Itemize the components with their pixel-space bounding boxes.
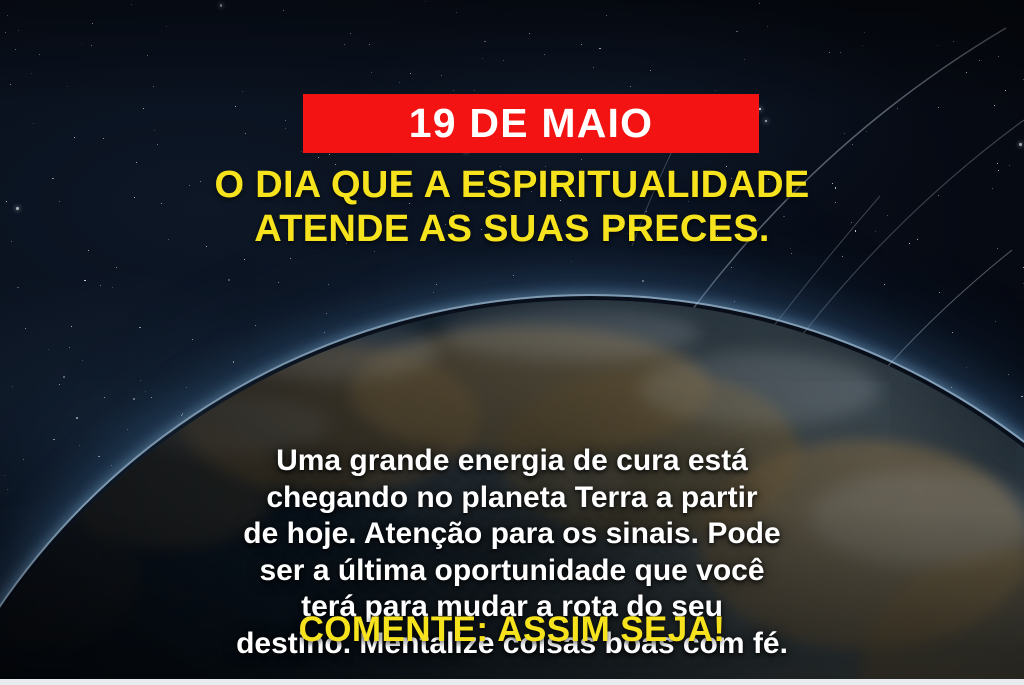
date-banner-text: 19 DE MAIO	[409, 103, 653, 144]
poster-canvas: 19 DE MAIO O DIA QUE A ESPIRITUALIDADE A…	[0, 0, 1024, 685]
call-to-action-text: COMENTE: ASSIM SEJA!	[0, 612, 1024, 647]
body-line-4: ser a última oportunidade que você	[62, 553, 962, 590]
body-line-3: de hoje. Atenção para os sinais. Pode	[62, 516, 962, 553]
headline: O DIA QUE A ESPIRITUALIDADE ATENDE AS SU…	[0, 163, 1024, 251]
headline-line-1: O DIA QUE A ESPIRITUALIDADE	[46, 163, 978, 207]
headline-line-2: ATENDE AS SUAS PRECES.	[46, 207, 978, 251]
date-banner: 19 DE MAIO	[303, 94, 759, 153]
body-line-2: chegando no planeta Terra a partir	[62, 480, 962, 517]
poster-content: 19 DE MAIO O DIA QUE A ESPIRITUALIDADE A…	[0, 0, 1024, 685]
bottom-border-strip	[0, 679, 1024, 685]
body-line-1: Uma grande energia de cura está	[62, 443, 962, 480]
